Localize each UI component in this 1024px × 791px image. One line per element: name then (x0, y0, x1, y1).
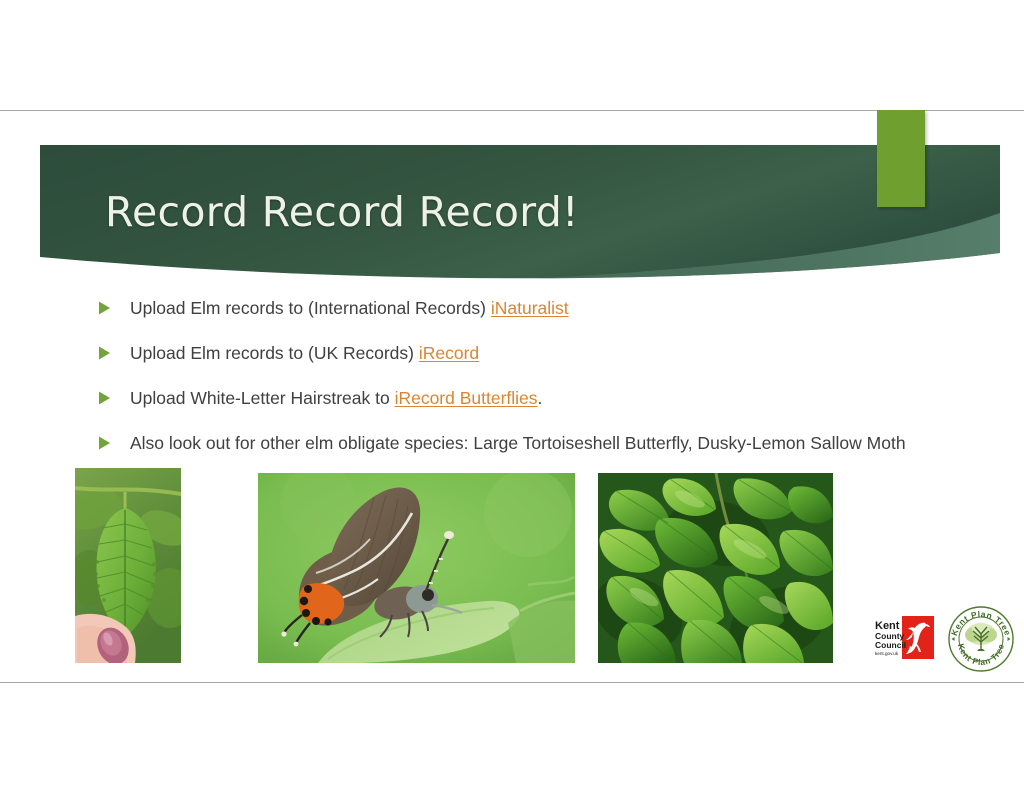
bullet-2-lead: Upload Elm records to (UK Records) (130, 343, 419, 363)
kent-plan-tree-logo: Kent Plan Tree Kent Plan Tree (946, 604, 1016, 674)
top-divider-rule (0, 110, 1024, 111)
elm-leaf-in-hand-photo (75, 468, 181, 663)
kent-county-council-logo: Kent County Council kent.gov.uk (872, 616, 934, 659)
bullet-text-3: Upload White-Letter Hairstreak to iRecor… (130, 386, 542, 410)
bullet-1-lead: Upload Elm records to (International Rec… (130, 298, 491, 318)
triangle-bullet-icon (98, 436, 111, 450)
svg-text:kent.gov.uk: kent.gov.uk (875, 651, 899, 656)
bullet-item-1: Upload Elm records to (International Rec… (98, 296, 958, 320)
slide-title: Record Record Record! (105, 192, 579, 233)
bullet-3-lead: Upload White-Letter Hairstreak to (130, 388, 395, 408)
bullet-3-tail: . (538, 388, 543, 408)
elm-foliage-photo (598, 473, 833, 663)
bullet-item-3: Upload White-Letter Hairstreak to iRecor… (98, 386, 958, 410)
triangle-bullet-icon (98, 391, 111, 405)
bullet-text-1: Upload Elm records to (International Rec… (130, 296, 569, 320)
bottom-divider-rule (0, 682, 1024, 683)
triangle-bullet-icon (98, 301, 111, 315)
irecord-butterflies-link[interactable]: iRecord Butterflies (395, 388, 538, 408)
accent-rectangle (877, 110, 925, 207)
presentation-slide: Record Record Record! Upload Elm records… (0, 0, 1024, 791)
svg-text:Council: Council (875, 640, 906, 650)
triangle-bullet-icon (98, 346, 111, 360)
inaturalist-link[interactable]: iNaturalist (491, 298, 569, 318)
bullet-item-4: Also look out for other elm obligate spe… (98, 431, 958, 455)
white-letter-hairstreak-photo (258, 473, 575, 663)
irecord-link[interactable]: iRecord (419, 343, 479, 363)
bullet-text-2: Upload Elm records to (UK Records) iReco… (130, 341, 479, 365)
bullet-list: Upload Elm records to (International Rec… (98, 296, 958, 476)
bullet-item-2: Upload Elm records to (UK Records) iReco… (98, 341, 958, 365)
bullet-text-4: Also look out for other elm obligate spe… (130, 431, 906, 455)
